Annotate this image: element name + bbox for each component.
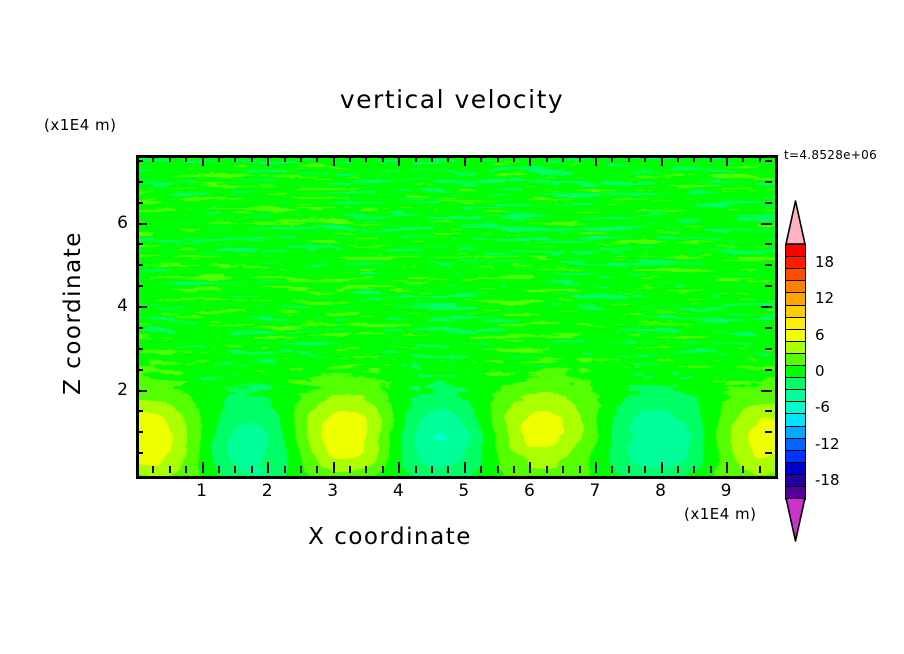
x-minor-tick [300, 466, 302, 473]
y-minor-tick [136, 285, 143, 287]
x-top-tick [759, 155, 761, 162]
x-minor-tick [644, 466, 646, 473]
x-tick-label: 5 [444, 481, 484, 501]
x-top-tick [710, 155, 712, 162]
x-minor-tick [365, 466, 367, 473]
y-tick-label: 2 [88, 380, 128, 400]
x-major-tick [333, 462, 335, 473]
y-right-tick [765, 431, 772, 433]
x-tick-label: 9 [706, 481, 746, 501]
y-minor-tick [136, 369, 143, 371]
x-minor-tick [234, 466, 236, 473]
x-top-tick [365, 155, 367, 162]
x-minor-tick [579, 466, 581, 473]
y-right-tick [765, 181, 772, 183]
y-minor-tick [136, 348, 143, 350]
x-top-tick [152, 155, 154, 162]
y-right-tick [765, 369, 772, 371]
x-major-tick [726, 462, 728, 473]
y-right-tick [765, 327, 772, 329]
x-tick-label: 2 [247, 481, 287, 501]
page-title: vertical velocity [0, 85, 904, 114]
y-right-tick [765, 348, 772, 350]
x-minor-tick [562, 466, 564, 473]
x-minor-tick [382, 466, 384, 473]
x-top-tick [611, 155, 613, 162]
y-minor-tick [136, 431, 143, 433]
y-minor-tick [136, 160, 143, 162]
x-minor-tick [284, 466, 286, 473]
x-top-tick [579, 155, 581, 162]
contour-field [139, 158, 775, 476]
x-top-tick [480, 155, 482, 162]
x-top-tick [234, 155, 236, 162]
x-major-tick [267, 462, 269, 473]
colorbar-over-range-cap [785, 200, 806, 244]
colorbar-tick-label: 0 [815, 362, 825, 380]
x-top-tick [497, 155, 499, 162]
y-right-tick [765, 160, 772, 162]
x-minor-tick [316, 466, 318, 473]
y-right-tick [765, 410, 772, 412]
x-minor-tick [742, 466, 744, 473]
x-minor-tick [480, 466, 482, 473]
x-top-tick [677, 155, 679, 162]
y-right-tick [765, 243, 772, 245]
x-top-tick [742, 155, 744, 162]
y-major-tick [136, 390, 147, 392]
y-right-tick [761, 306, 772, 308]
y-right-tick [765, 264, 772, 266]
y-minor-tick [136, 327, 143, 329]
y-right-tick [765, 452, 772, 454]
x-top-tick [431, 155, 433, 162]
y-minor-tick [136, 410, 143, 412]
x-minor-tick [677, 466, 679, 473]
figure-canvas: vertical velocity (x1E4 m) t=4.8528e+06 … [0, 0, 904, 654]
x-top-tick [316, 155, 318, 162]
colorbar-tick-label: -6 [815, 398, 830, 416]
x-major-tick [464, 462, 466, 473]
y-right-tick [761, 390, 772, 392]
timestamp-annotation: t=4.8528e+06 [784, 148, 877, 162]
colorbar-under-range-cap [785, 498, 806, 542]
y-minor-tick [136, 452, 143, 454]
y-minor-tick [136, 181, 143, 183]
x-minor-tick [710, 466, 712, 473]
x-top-tick [284, 155, 286, 162]
x-major-tick [529, 462, 531, 473]
y-tick-label: 6 [88, 213, 128, 233]
y-axis-title: Z coordinate [60, 193, 86, 433]
colorbar-tick-label: -18 [815, 471, 840, 489]
x-top-tick [169, 155, 171, 162]
x-tick-label: 8 [641, 481, 681, 501]
y-minor-tick [136, 202, 143, 204]
x-top-tick [349, 155, 351, 162]
x-tick-label: 1 [182, 481, 222, 501]
x-minor-tick [628, 466, 630, 473]
y-axis-unit-label: (x1E4 m) [44, 116, 117, 134]
x-top-tick [644, 155, 646, 162]
colorbar-tick-label: 6 [815, 326, 825, 344]
x-top-tick [464, 155, 466, 166]
x-top-tick [415, 155, 417, 162]
y-major-tick [136, 223, 147, 225]
y-right-tick [765, 202, 772, 204]
x-top-tick [333, 155, 335, 166]
x-tick-label: 6 [509, 481, 549, 501]
y-right-tick [765, 285, 772, 287]
x-minor-tick [349, 466, 351, 473]
x-tick-label: 4 [378, 481, 418, 501]
x-minor-tick [415, 466, 417, 473]
x-top-tick [513, 155, 515, 162]
x-top-tick [267, 155, 269, 166]
x-major-tick [398, 462, 400, 473]
colorbar-tick-label: -12 [815, 435, 840, 453]
x-minor-tick [218, 466, 220, 473]
x-minor-tick [152, 466, 154, 473]
x-top-tick [251, 155, 253, 162]
x-minor-tick [431, 466, 433, 473]
x-axis-unit-label: (x1E4 m) [684, 505, 757, 523]
y-tick-label: 4 [88, 296, 128, 316]
x-minor-tick [251, 466, 253, 473]
x-minor-tick [546, 466, 548, 473]
x-top-tick [398, 155, 400, 166]
x-top-tick [726, 155, 728, 166]
x-axis-title: X coordinate [0, 524, 780, 550]
x-top-tick [529, 155, 531, 166]
y-right-tick [761, 223, 772, 225]
contour-plot-area [136, 155, 778, 479]
x-top-tick [218, 155, 220, 162]
y-minor-tick [136, 264, 143, 266]
y-major-tick [136, 306, 147, 308]
x-minor-tick [497, 466, 499, 473]
x-top-tick [595, 155, 597, 166]
x-major-tick [202, 462, 204, 473]
x-top-tick [693, 155, 695, 162]
x-top-tick [661, 155, 663, 166]
x-top-tick [562, 155, 564, 162]
x-tick-label: 7 [575, 481, 615, 501]
x-tick-label: 3 [313, 481, 353, 501]
x-minor-tick [513, 466, 515, 473]
x-top-tick [628, 155, 630, 162]
x-top-tick [202, 155, 204, 166]
y-minor-tick [136, 243, 143, 245]
x-minor-tick [169, 466, 171, 473]
x-top-tick [185, 155, 187, 162]
x-top-tick [546, 155, 548, 162]
x-minor-tick [185, 466, 187, 473]
colorbar-tick-label: 12 [815, 289, 834, 307]
x-top-tick [300, 155, 302, 162]
x-minor-tick [447, 466, 449, 473]
x-minor-tick [693, 466, 695, 473]
colorbar-tick-label: 18 [815, 253, 834, 271]
x-top-tick [447, 155, 449, 162]
x-minor-tick [759, 466, 761, 473]
x-minor-tick [611, 466, 613, 473]
x-major-tick [595, 462, 597, 473]
x-major-tick [661, 462, 663, 473]
x-top-tick [382, 155, 384, 162]
